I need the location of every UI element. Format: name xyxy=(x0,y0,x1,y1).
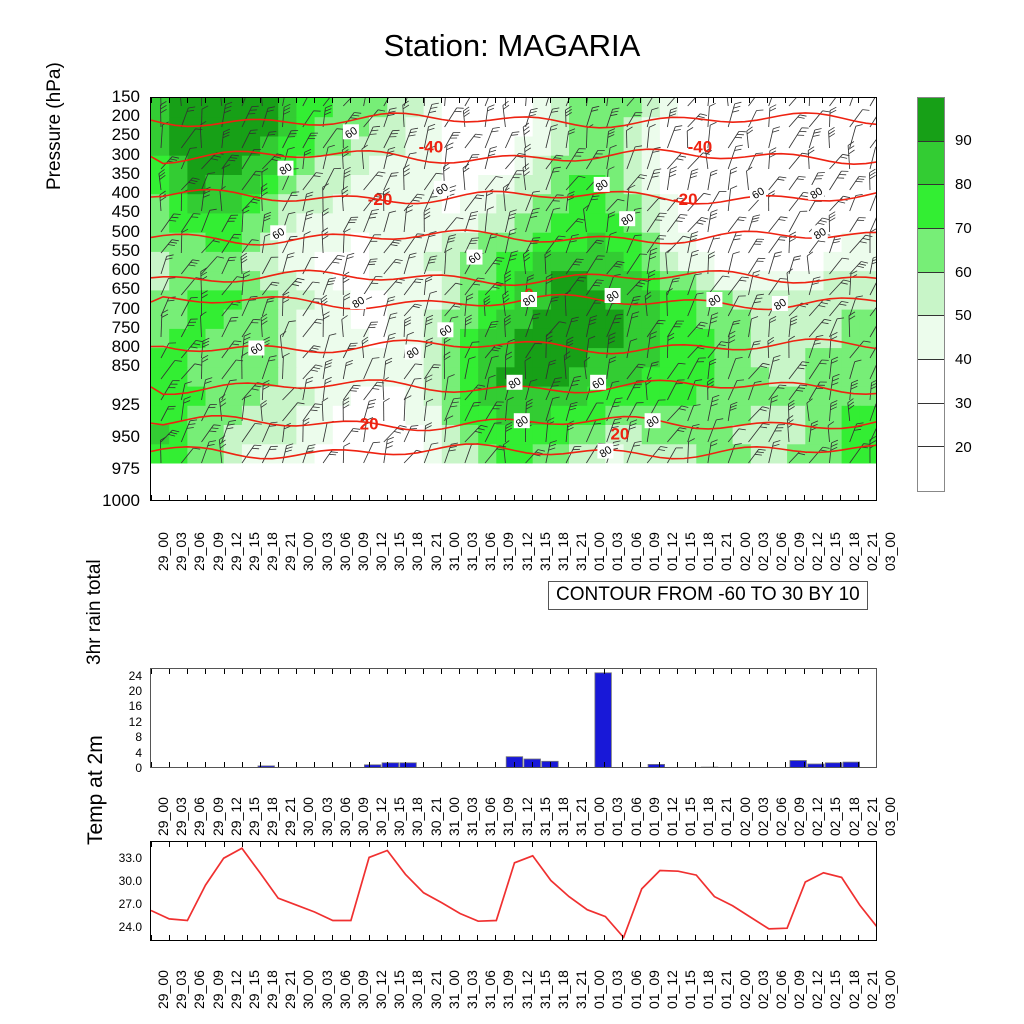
axis-tick xyxy=(441,842,442,847)
axis-tick xyxy=(314,762,315,767)
axis-tick xyxy=(477,669,478,674)
axis-tick xyxy=(822,762,823,767)
axis-tick xyxy=(822,669,823,674)
axis-tick xyxy=(876,669,877,674)
axis-tick xyxy=(495,762,496,767)
time-tick-30_21: 30_21 xyxy=(428,797,444,836)
axis-tick xyxy=(659,98,660,103)
time-tick-30_18: 30_18 xyxy=(409,797,425,836)
axis-tick xyxy=(514,762,515,767)
time-tick-29_09: 29_09 xyxy=(210,797,226,836)
time-tick-31_15: 31_15 xyxy=(537,532,553,571)
rain-tick-20: 20 xyxy=(104,685,142,697)
axis-tick xyxy=(586,762,587,767)
axis-tick xyxy=(169,935,170,940)
axis-tick xyxy=(350,935,351,940)
axis-tick xyxy=(350,762,351,767)
axis-tick xyxy=(713,98,714,103)
axis-tick xyxy=(350,98,351,103)
axis-tick xyxy=(459,669,460,674)
axis-tick xyxy=(532,98,533,103)
axis-tick xyxy=(514,842,515,847)
axis-tick xyxy=(205,495,206,500)
axis-tick xyxy=(224,935,225,940)
main-y-tick-labels: 1502002503003504004505005506006507007508… xyxy=(96,0,144,520)
axis-tick xyxy=(622,98,623,103)
time-tick-30_00: 30_00 xyxy=(300,970,316,1009)
axis-tick xyxy=(495,495,496,500)
time-tick-30_12: 30_12 xyxy=(373,970,389,1009)
time-tick-30_15: 30_15 xyxy=(391,532,407,571)
axis-tick xyxy=(695,495,696,500)
pressure-tick-700: 700 xyxy=(96,300,140,317)
axis-tick xyxy=(495,669,496,674)
time-tick-31_21: 31_21 xyxy=(573,970,589,1009)
axis-tick xyxy=(659,762,660,767)
axis-tick xyxy=(568,495,569,500)
time-tick-01_15: 01_15 xyxy=(682,532,698,571)
pressure-tick-750: 750 xyxy=(96,319,140,336)
time-tick-02_06: 02_06 xyxy=(773,532,789,571)
axis-tick xyxy=(713,842,714,847)
time-tick-31_03: 31_03 xyxy=(464,797,480,836)
axis-tick xyxy=(151,842,152,847)
time-tick-03_00: 03_00 xyxy=(882,532,898,571)
rain-bar-chart[interactable] xyxy=(150,668,877,768)
axis-tick xyxy=(586,842,587,847)
axis-tick xyxy=(604,842,605,847)
axis-tick xyxy=(169,762,170,767)
axis-tick xyxy=(350,495,351,500)
axis-tick xyxy=(169,495,170,500)
time-tick-31_09: 31_09 xyxy=(500,532,516,571)
axis-tick xyxy=(532,762,533,767)
pressure-tick-650: 650 xyxy=(96,280,140,297)
time-tick-31_12: 31_12 xyxy=(519,532,535,571)
axis-tick xyxy=(659,935,660,940)
axis-tick xyxy=(314,842,315,847)
time-tick-02_06: 02_06 xyxy=(773,970,789,1009)
colorbar-label-70: 70 xyxy=(955,221,972,236)
colorbar-band-4 xyxy=(918,273,944,317)
axis-tick xyxy=(568,98,569,103)
axis-tick xyxy=(387,842,388,847)
pressure-tick-925: 925 xyxy=(96,396,140,413)
time-tick-29_18: 29_18 xyxy=(264,532,280,571)
time-tick-29_18: 29_18 xyxy=(264,970,280,1009)
time-tick-29_00: 29_00 xyxy=(155,797,171,836)
axis-tick xyxy=(405,762,406,767)
axis-tick xyxy=(858,669,859,674)
axis-tick xyxy=(622,669,623,674)
humidity-cross-section-plot[interactable]: -40-40-20-200202080606080806060808080608… xyxy=(150,97,877,501)
axis-tick xyxy=(296,495,297,500)
rain-tick-8: 8 xyxy=(104,731,142,743)
axis-tick xyxy=(187,762,188,767)
axis-tick xyxy=(332,842,333,847)
axis-tick xyxy=(332,762,333,767)
time-tick-02_03: 02_03 xyxy=(755,797,771,836)
time-tick-01_21: 01_21 xyxy=(718,797,734,836)
time-tick-01_21: 01_21 xyxy=(718,532,734,571)
axis-tick xyxy=(224,842,225,847)
axis-tick xyxy=(622,762,623,767)
axis-tick xyxy=(242,842,243,847)
time-tick-31_12: 31_12 xyxy=(519,970,535,1009)
axis-tick xyxy=(677,762,678,767)
axis-tick xyxy=(423,669,424,674)
colorbar-band-3 xyxy=(918,229,944,273)
time-tick-02_18: 02_18 xyxy=(846,797,862,836)
axis-tick xyxy=(749,842,750,847)
time-tick-31_00: 31_00 xyxy=(446,970,462,1009)
axis-tick xyxy=(586,98,587,103)
axis-tick xyxy=(405,669,406,674)
axis-tick xyxy=(731,842,732,847)
axis-tick xyxy=(840,669,841,674)
axis-tick xyxy=(785,842,786,847)
time-tick-29_06: 29_06 xyxy=(191,797,207,836)
colorbar-label-30: 30 xyxy=(955,396,972,411)
axis-tick xyxy=(205,669,206,674)
time-tick-02_15: 02_15 xyxy=(827,970,843,1009)
pressure-tick-450: 450 xyxy=(96,203,140,220)
time-tick-31_06: 31_06 xyxy=(482,532,498,571)
axis-tick xyxy=(151,762,152,767)
axis-tick xyxy=(550,762,551,767)
time-tick-02_18: 02_18 xyxy=(846,970,862,1009)
axis-tick xyxy=(278,842,279,847)
axis-tick xyxy=(568,669,569,674)
axis-tick xyxy=(296,669,297,674)
colorbar-band-1 xyxy=(918,142,944,186)
svg-text:-40: -40 xyxy=(419,138,444,157)
pressure-tick-150: 150 xyxy=(96,88,140,105)
time-tick-01_09: 01_09 xyxy=(646,970,662,1009)
time-tick-02_12: 02_12 xyxy=(809,532,825,571)
axis-tick xyxy=(242,495,243,500)
axis-tick xyxy=(749,762,750,767)
pressure-tick-200: 200 xyxy=(96,107,140,124)
time-tick-30_15: 30_15 xyxy=(391,970,407,1009)
axis-tick xyxy=(659,669,660,674)
axis-tick xyxy=(858,495,859,500)
time-tick-01_00: 01_00 xyxy=(591,532,607,571)
colorbar-band-6 xyxy=(918,360,944,404)
axis-tick xyxy=(314,495,315,500)
axis-tick xyxy=(767,669,768,674)
svg-text:-40: -40 xyxy=(688,138,713,157)
time-tick-02_03: 02_03 xyxy=(755,532,771,571)
axis-tick xyxy=(369,98,370,103)
svg-text:20: 20 xyxy=(360,414,379,433)
axis-tick xyxy=(840,762,841,767)
rain-y-tick-labels: 04812162024 xyxy=(104,660,146,780)
axis-tick xyxy=(441,495,442,500)
axis-tick xyxy=(604,935,605,940)
axis-tick xyxy=(840,98,841,103)
axis-tick xyxy=(151,935,152,940)
axis-tick xyxy=(278,935,279,940)
axis-tick xyxy=(677,669,678,674)
axis-tick xyxy=(205,935,206,940)
axis-tick xyxy=(767,495,768,500)
time-tick-02_12: 02_12 xyxy=(809,797,825,836)
colorbar-label-90: 90 xyxy=(955,133,972,148)
time-tick-31_15: 31_15 xyxy=(537,797,553,836)
time-tick-29_06: 29_06 xyxy=(191,970,207,1009)
time-tick-01_12: 01_12 xyxy=(664,970,680,1009)
time-tick-29_21: 29_21 xyxy=(282,532,298,571)
temperature-line-chart[interactable] xyxy=(150,841,877,941)
axis-tick xyxy=(640,98,641,103)
time-tick-29_12: 29_12 xyxy=(228,532,244,571)
axis-tick xyxy=(441,762,442,767)
axis-tick xyxy=(205,98,206,103)
time-tick-29_09: 29_09 xyxy=(210,970,226,1009)
colorbar-label-80: 80 xyxy=(955,177,972,192)
axis-tick xyxy=(242,98,243,103)
axis-tick xyxy=(586,495,587,500)
axis-tick xyxy=(604,669,605,674)
axis-tick xyxy=(713,669,714,674)
axis-tick xyxy=(731,98,732,103)
axis-tick xyxy=(314,98,315,103)
axis-tick xyxy=(278,495,279,500)
axis-tick xyxy=(187,98,188,103)
axis-tick xyxy=(640,842,641,847)
axis-tick xyxy=(822,935,823,940)
svg-text:-20: -20 xyxy=(368,190,393,209)
axis-tick xyxy=(532,935,533,940)
time-tick-02_00: 02_00 xyxy=(737,970,753,1009)
axis-tick xyxy=(477,762,478,767)
rain-tick-12: 12 xyxy=(104,716,142,728)
time-tick-02_00: 02_00 xyxy=(737,532,753,571)
time-tick-01_09: 01_09 xyxy=(646,797,662,836)
axis-tick xyxy=(514,98,515,103)
time-tick-03_00: 03_00 xyxy=(882,970,898,1009)
axis-tick xyxy=(169,842,170,847)
axis-tick xyxy=(804,762,805,767)
time-tick-29_00: 29_00 xyxy=(155,970,171,1009)
axis-tick xyxy=(169,98,170,103)
time-tick-02_09: 02_09 xyxy=(791,970,807,1009)
axis-tick xyxy=(822,98,823,103)
axis-tick xyxy=(749,935,750,940)
time-tick-02_21: 02_21 xyxy=(864,970,880,1009)
axis-tick xyxy=(387,495,388,500)
axis-tick xyxy=(568,842,569,847)
contour-caption: CONTOUR FROM -60 TO 30 BY 10 xyxy=(548,581,868,610)
time-tick-30_15: 30_15 xyxy=(391,797,407,836)
temp-y-tick-labels: 24.027.030.033.0 xyxy=(100,835,146,955)
time-tick-01_00: 01_00 xyxy=(591,797,607,836)
colorbar-band-2 xyxy=(918,185,944,229)
time-tick-30_03: 30_03 xyxy=(319,532,335,571)
time-tick-30_18: 30_18 xyxy=(409,532,425,571)
axis-tick xyxy=(332,495,333,500)
axis-tick xyxy=(369,762,370,767)
axis-tick xyxy=(495,842,496,847)
time-tick-02_03: 02_03 xyxy=(755,970,771,1009)
axis-tick xyxy=(767,762,768,767)
time-tick-30_18: 30_18 xyxy=(409,970,425,1009)
axis-tick xyxy=(459,842,460,847)
axis-tick xyxy=(622,495,623,500)
time-tick-31_06: 31_06 xyxy=(482,970,498,1009)
axis-tick xyxy=(260,935,261,940)
axis-tick xyxy=(459,495,460,500)
time-tick-29_03: 29_03 xyxy=(173,797,189,836)
axis-tick xyxy=(659,842,660,847)
axis-tick xyxy=(677,935,678,940)
rain-canvas xyxy=(151,669,877,768)
axis-tick xyxy=(858,935,859,940)
axis-tick xyxy=(187,669,188,674)
temp-tick-33: 33.0 xyxy=(100,852,142,864)
time-tick-02_15: 02_15 xyxy=(827,532,843,571)
axis-tick xyxy=(550,935,551,940)
time-tick-30_09: 30_09 xyxy=(355,970,371,1009)
temp-x-tick-labels: 29_0029_0329_0629_0929_1229_1529_1829_21… xyxy=(0,943,1024,1013)
colorbar-label-50: 50 xyxy=(955,308,972,323)
time-tick-30_00: 30_00 xyxy=(300,797,316,836)
axis-tick xyxy=(785,762,786,767)
time-tick-02_06: 02_06 xyxy=(773,797,789,836)
pressure-tick-550: 550 xyxy=(96,242,140,259)
time-tick-31_12: 31_12 xyxy=(519,797,535,836)
axis-tick xyxy=(187,842,188,847)
colorbar-label-40: 40 xyxy=(955,352,972,367)
axis-tick xyxy=(785,669,786,674)
time-tick-31_15: 31_15 xyxy=(537,970,553,1009)
axis-tick xyxy=(604,762,605,767)
axis-tick xyxy=(459,98,460,103)
axis-tick xyxy=(604,495,605,500)
svg-text:-20: -20 xyxy=(673,190,698,209)
rain-tick-4: 4 xyxy=(104,747,142,759)
time-tick-30_06: 30_06 xyxy=(337,970,353,1009)
time-tick-01_15: 01_15 xyxy=(682,797,698,836)
time-tick-02_21: 02_21 xyxy=(864,797,880,836)
time-tick-30_21: 30_21 xyxy=(428,532,444,571)
axis-tick xyxy=(441,98,442,103)
axis-tick xyxy=(695,762,696,767)
time-tick-30_09: 30_09 xyxy=(355,797,371,836)
axis-tick xyxy=(205,762,206,767)
axis-tick xyxy=(459,762,460,767)
pressure-tick-250: 250 xyxy=(96,126,140,143)
axis-tick xyxy=(332,669,333,674)
axis-tick xyxy=(514,669,515,674)
colorbar-band-0 xyxy=(918,98,944,142)
time-tick-02_09: 02_09 xyxy=(791,532,807,571)
axis-tick xyxy=(187,495,188,500)
time-tick-31_09: 31_09 xyxy=(500,970,516,1009)
axis-tick xyxy=(350,842,351,847)
weather-sounding-figure: Station: MAGARIA Pressure (hPa) 15020025… xyxy=(0,0,1024,1024)
time-tick-30_12: 30_12 xyxy=(373,532,389,571)
time-tick-01_15: 01_15 xyxy=(682,970,698,1009)
axis-tick xyxy=(477,495,478,500)
axis-tick xyxy=(604,98,605,103)
axis-tick xyxy=(369,935,370,940)
rain-y-axis-label: 3hr rain total xyxy=(84,485,106,665)
axis-tick xyxy=(224,98,225,103)
axis-tick xyxy=(477,98,478,103)
axis-tick xyxy=(441,935,442,940)
pressure-tick-950: 950 xyxy=(96,428,140,445)
axis-tick xyxy=(477,842,478,847)
axis-tick xyxy=(695,842,696,847)
axis-tick xyxy=(840,935,841,940)
axis-tick xyxy=(622,935,623,940)
time-tick-30_03: 30_03 xyxy=(319,970,335,1009)
axis-tick xyxy=(731,762,732,767)
time-tick-29_09: 29_09 xyxy=(210,532,226,571)
colorbar-band-8 xyxy=(918,447,944,491)
time-tick-01_21: 01_21 xyxy=(718,970,734,1009)
time-tick-31_03: 31_03 xyxy=(464,532,480,571)
time-tick-29_03: 29_03 xyxy=(173,532,189,571)
axis-tick xyxy=(260,842,261,847)
time-tick-30_12: 30_12 xyxy=(373,797,389,836)
main-y-axis-label: Pressure (hPa) xyxy=(44,0,66,190)
axis-tick xyxy=(495,98,496,103)
time-tick-02_21: 02_21 xyxy=(864,532,880,571)
axis-tick xyxy=(804,842,805,847)
time-tick-01_12: 01_12 xyxy=(664,532,680,571)
axis-tick xyxy=(278,98,279,103)
axis-tick xyxy=(260,98,261,103)
pressure-tick-850: 850 xyxy=(96,357,140,374)
axis-tick xyxy=(205,842,206,847)
pressure-tick-300: 300 xyxy=(96,146,140,163)
axis-tick xyxy=(731,935,732,940)
axis-tick xyxy=(224,762,225,767)
axis-tick xyxy=(550,842,551,847)
time-tick-31_06: 31_06 xyxy=(482,797,498,836)
axis-tick xyxy=(387,669,388,674)
colorbar-band-5 xyxy=(918,316,944,360)
temp-tick-30: 30.0 xyxy=(100,875,142,887)
axis-tick xyxy=(840,495,841,500)
axis-tick xyxy=(713,495,714,500)
pressure-tick-500: 500 xyxy=(96,223,140,240)
axis-tick xyxy=(713,935,714,940)
axis-tick xyxy=(713,762,714,767)
time-tick-29_12: 29_12 xyxy=(228,797,244,836)
time-tick-03_00: 03_00 xyxy=(882,797,898,836)
axis-tick xyxy=(350,669,351,674)
time-tick-01_06: 01_06 xyxy=(628,970,644,1009)
pressure-tick-800: 800 xyxy=(96,338,140,355)
axis-tick xyxy=(785,495,786,500)
axis-tick xyxy=(822,842,823,847)
axis-tick xyxy=(858,842,859,847)
axis-tick xyxy=(785,98,786,103)
time-tick-29_00: 29_00 xyxy=(155,532,171,571)
time-tick-02_00: 02_00 xyxy=(737,797,753,836)
axis-tick xyxy=(804,495,805,500)
axis-tick xyxy=(459,935,460,940)
axis-tick xyxy=(296,762,297,767)
axis-tick xyxy=(532,842,533,847)
axis-tick xyxy=(767,935,768,940)
axis-tick xyxy=(804,669,805,674)
time-tick-29_21: 29_21 xyxy=(282,970,298,1009)
